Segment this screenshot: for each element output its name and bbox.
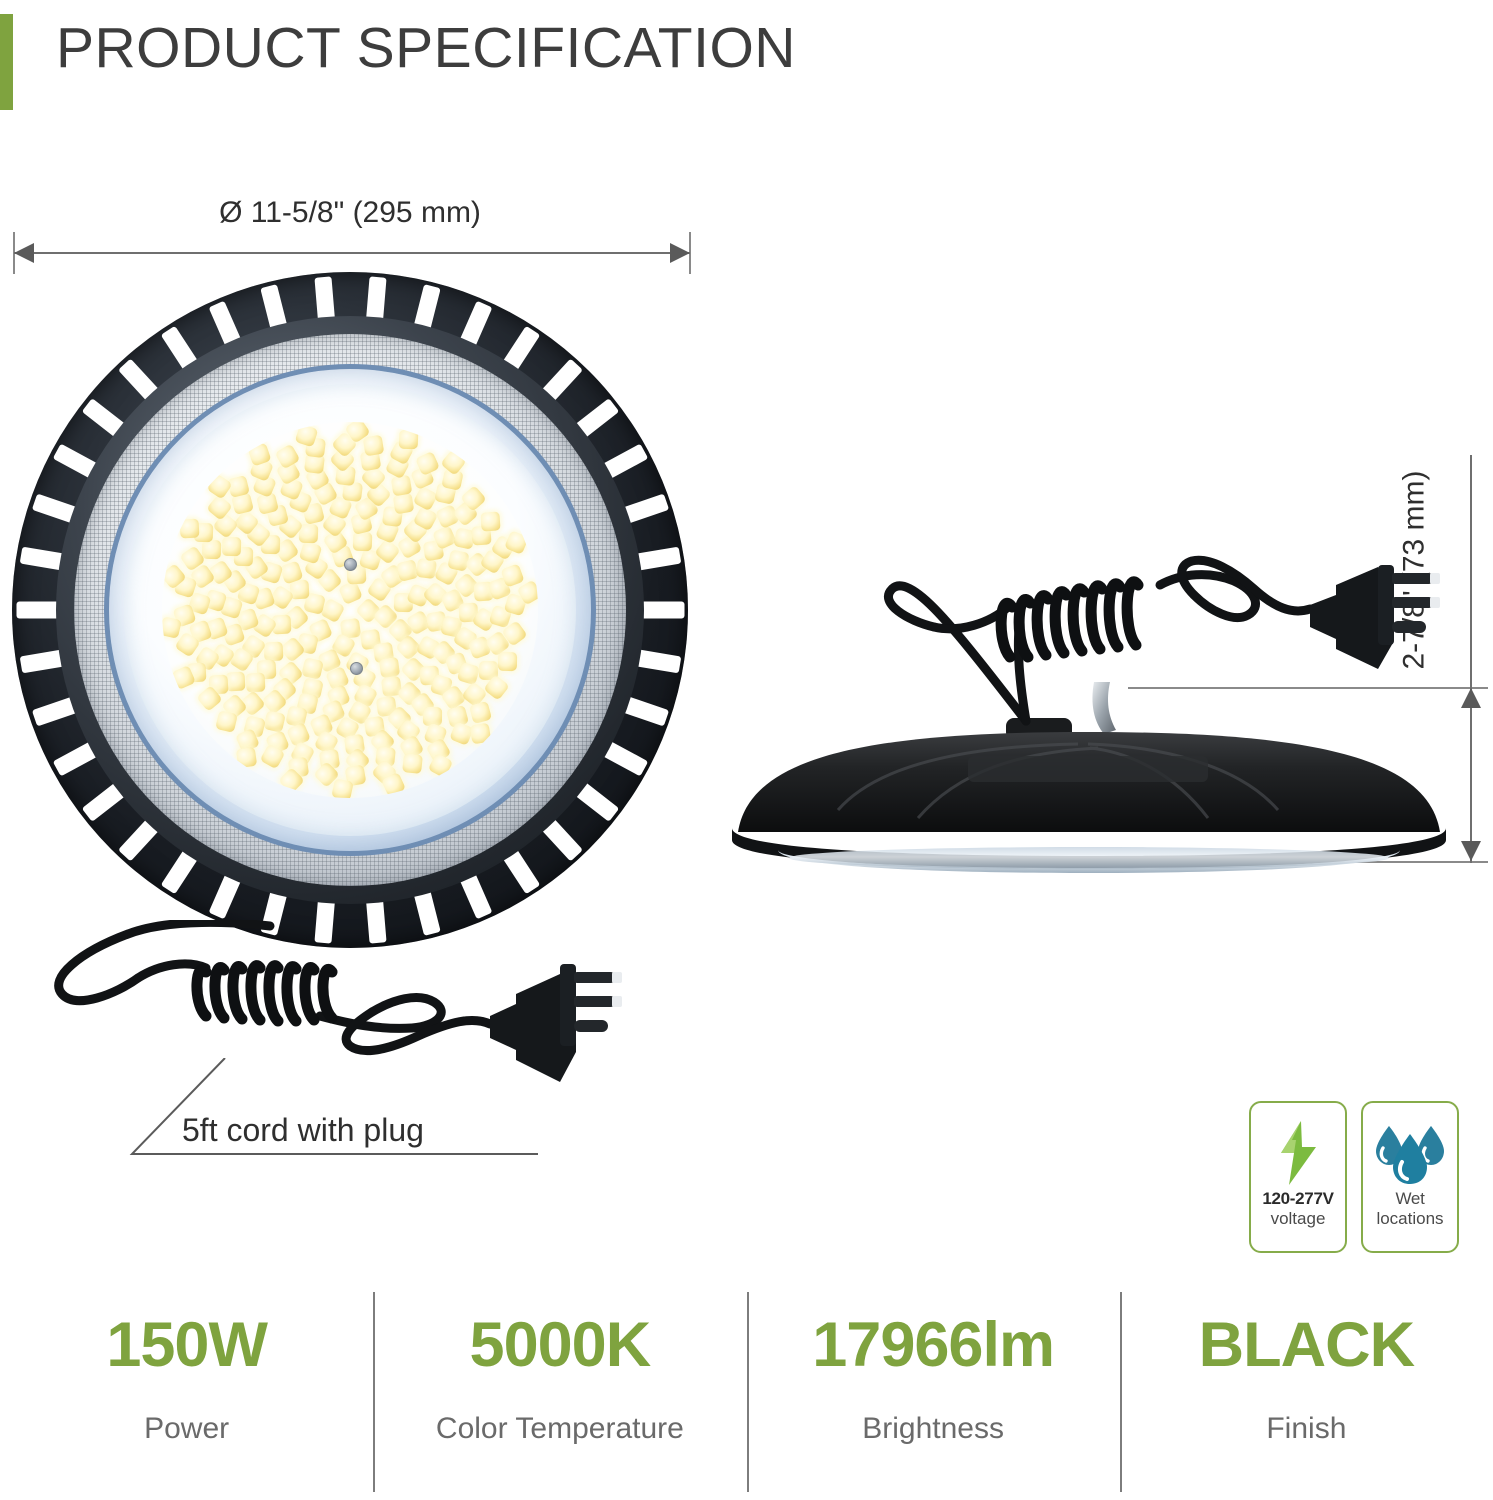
led-chip xyxy=(457,662,481,686)
led-chip xyxy=(221,536,241,556)
spec-finish-label: Finish xyxy=(1266,1412,1346,1446)
board-screw xyxy=(344,558,357,571)
led-board xyxy=(162,422,538,798)
arrow-up-icon xyxy=(1461,688,1481,708)
led-chip xyxy=(353,531,373,551)
led-chip xyxy=(362,435,384,457)
spec-power: 150W Power xyxy=(0,1286,373,1500)
spec-color-temperature-value: 5000K xyxy=(470,1312,651,1378)
lightning-bolt-icon xyxy=(1275,1117,1321,1189)
spec-power-value: 150W xyxy=(106,1312,267,1378)
led-chip xyxy=(498,652,517,671)
led-chip xyxy=(416,558,437,579)
water-drops-icon xyxy=(1374,1117,1446,1189)
led-high-bay-front-view xyxy=(12,272,688,948)
arrow-down-icon xyxy=(1461,841,1481,861)
led-chip xyxy=(264,641,284,661)
led-chip xyxy=(235,746,256,767)
feature-badges: 120-277V voltage Wet locations xyxy=(1249,1101,1459,1253)
spec-finish: BLACK Finish xyxy=(1120,1286,1493,1500)
width-dimension-label: Ø 11-5/8" (295 mm) xyxy=(0,196,700,230)
arrow-left-icon xyxy=(14,243,34,263)
accent-bar xyxy=(0,14,13,110)
arrow-right-icon xyxy=(670,243,690,263)
led-chip xyxy=(331,779,354,798)
cord-callout-label: 5ft cord with plug xyxy=(182,1112,424,1149)
led-chip xyxy=(398,430,418,450)
spec-color-temperature: 5000K Color Temperature xyxy=(373,1286,746,1500)
led-chip xyxy=(396,558,419,581)
board-screw xyxy=(350,662,363,675)
spec-power-label: Power xyxy=(144,1412,229,1446)
led-chip xyxy=(275,443,301,469)
page-title: PRODUCT SPECIFICATION xyxy=(56,20,796,77)
spec-summary-strip: 150W Power 5000K Color Temperature 17966… xyxy=(0,1286,1493,1500)
height-dimension-line xyxy=(1470,455,1472,863)
spec-finish-value: BLACK xyxy=(1199,1312,1414,1378)
led-chip xyxy=(470,723,492,745)
led-chip xyxy=(180,518,200,538)
led-chip xyxy=(215,710,238,733)
power-cord-side xyxy=(830,545,1450,775)
badge-wet-locations[interactable]: Wet locations xyxy=(1361,1101,1459,1253)
led-chip xyxy=(301,658,324,681)
badge-voltage-label: voltage xyxy=(1271,1209,1326,1229)
plug-icon xyxy=(1310,565,1440,669)
badge-wet-line2: locations xyxy=(1376,1209,1443,1229)
spec-brightness-label: Brightness xyxy=(862,1412,1004,1446)
spec-sheet: PRODUCT SPECIFICATION Ø 11-5/8" (295 mm)… xyxy=(0,0,1493,1500)
led-chip xyxy=(263,710,286,733)
badge-voltage-value: 120-277V xyxy=(1262,1189,1333,1209)
led-chip xyxy=(202,540,222,560)
badge-voltage[interactable]: 120-277V voltage xyxy=(1249,1101,1347,1253)
led-chip xyxy=(393,493,415,515)
spec-brightness-value: 17966lm xyxy=(812,1312,1054,1378)
led-chip xyxy=(469,701,492,724)
spec-color-temperature-label: Color Temperature xyxy=(436,1412,684,1446)
led-chip xyxy=(379,657,400,678)
led-chip xyxy=(402,753,423,774)
led-chip xyxy=(246,673,266,693)
led-chip xyxy=(481,512,501,532)
spec-brightness: 17966lm Brightness xyxy=(747,1286,1120,1500)
width-dimension-line xyxy=(14,252,690,254)
badge-wet-line1: Wet xyxy=(1395,1189,1424,1209)
led-chip xyxy=(162,616,182,639)
